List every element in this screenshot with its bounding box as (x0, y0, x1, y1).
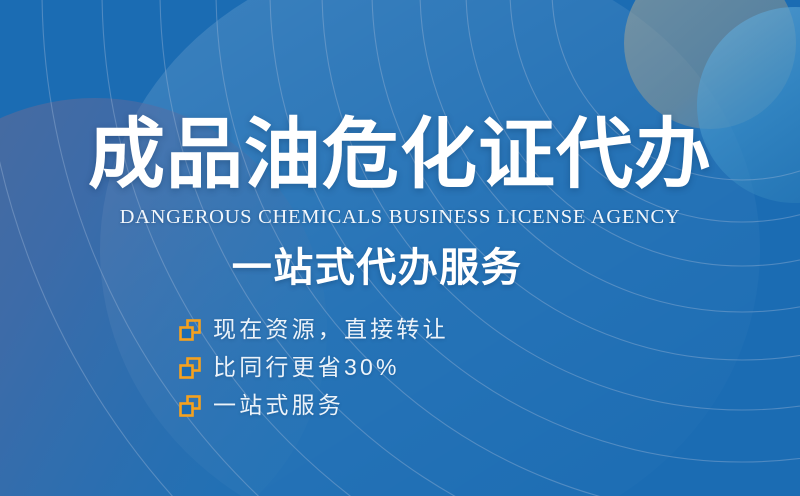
banner-content: 成品油危化证代办 DANGEROUS CHEMICALS BUSINESS LI… (0, 0, 800, 496)
overlapping-squares-icon (178, 356, 202, 380)
feature-list: 现在资源，直接转让 比同行更省30% 一站式服务 (178, 316, 449, 419)
list-item: 比同行更省30% (178, 354, 449, 381)
list-item-label: 一站式服务 (213, 392, 344, 419)
page-subtitle: 一站式代办服务 (0, 244, 800, 292)
overlapping-squares-icon (178, 394, 202, 418)
list-item: 现在资源，直接转让 (178, 316, 449, 343)
list-item-label: 比同行更省30% (213, 354, 400, 381)
promo-banner: 成品油危化证代办 DANGEROUS CHEMICALS BUSINESS LI… (0, 0, 800, 496)
overlapping-squares-icon (178, 318, 202, 342)
list-item: 一站式服务 (178, 392, 449, 419)
page-title-english: DANGEROUS CHEMICALS BUSINESS LICENSE AGE… (0, 205, 800, 229)
page-title: 成品油危化证代办 (0, 112, 800, 198)
list-item-label: 现在资源，直接转让 (213, 316, 449, 343)
